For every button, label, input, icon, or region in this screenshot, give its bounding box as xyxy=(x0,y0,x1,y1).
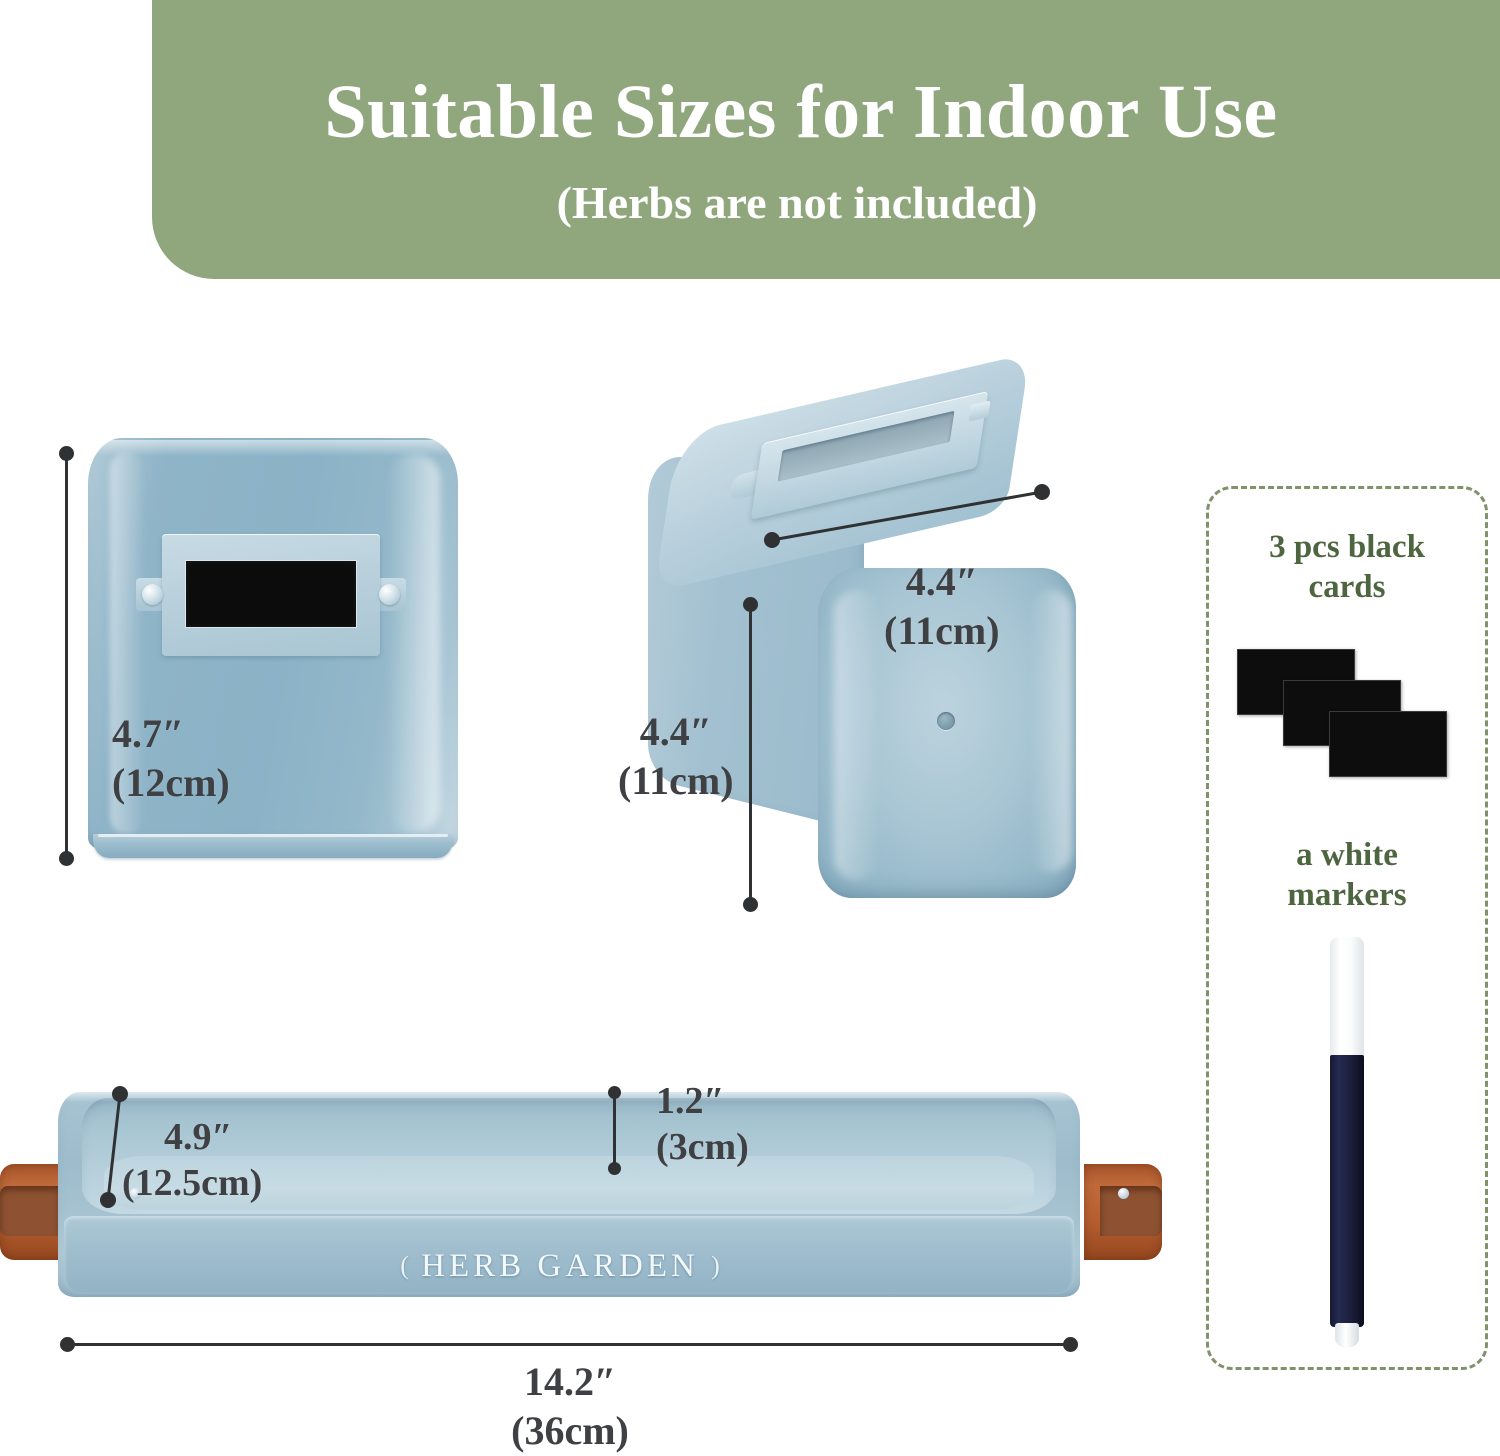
white-marker-caption: a white markers xyxy=(1209,835,1485,916)
dimension-line-tray-length xyxy=(66,1343,1076,1346)
dimension-dot-tray-length-right xyxy=(1063,1337,1078,1352)
dimension-dot-planter-depth-bottom xyxy=(743,897,758,912)
dimension-value-metric: (3cm) xyxy=(656,1124,749,1170)
dimension-value-metric: (11cm) xyxy=(884,607,1000,656)
white-marker-illustration xyxy=(1328,937,1366,1349)
dimension-value-inches: 14.2″ xyxy=(0,1358,1140,1407)
dimension-label-planter-height: 4.7″ (12cm) xyxy=(112,710,230,808)
black-cards-caption-line1: 3 pcs black xyxy=(1209,527,1485,567)
laurel-ornament-right: ) xyxy=(711,1251,720,1281)
label-holder xyxy=(136,534,406,656)
laurel-ornament-left: ( xyxy=(400,1251,409,1281)
dimension-value-metric: (36cm) xyxy=(0,1407,1140,1456)
handle-inner-shadow xyxy=(0,1186,60,1236)
marker-cap xyxy=(1330,937,1364,1057)
dimension-value-metric: (12.5cm) xyxy=(122,1160,262,1206)
planter-base-rim xyxy=(93,834,453,858)
dimension-value-inches: 4.4″ xyxy=(618,708,734,757)
planter-base-highlight xyxy=(98,834,448,837)
dimension-stroke-planter-width xyxy=(772,492,1042,540)
dimension-line-planter-depth xyxy=(749,604,752,904)
dimension-dot-tray-depth-bottom xyxy=(100,1192,116,1208)
dimension-value-inches: 4.9″ xyxy=(122,1114,262,1160)
dimension-dot-tray-length-left xyxy=(60,1337,75,1352)
dimension-dot-tray-wall-bottom xyxy=(608,1162,621,1175)
marker-tip xyxy=(1335,1323,1359,1347)
black-cards-illustration xyxy=(1237,649,1463,779)
marker-body xyxy=(1330,1055,1364,1327)
planter-top-rim xyxy=(92,440,454,456)
handle-inner-shadow xyxy=(1100,1186,1162,1236)
dimension-value-metric: (12cm) xyxy=(112,759,230,808)
black-chalk-card xyxy=(185,560,357,628)
banner-title: Suitable Sizes for Indoor Use xyxy=(152,74,1500,150)
tray-rivet-right xyxy=(1118,1188,1129,1199)
dimension-dot-tray-wall-top xyxy=(608,1086,621,1099)
dimension-label-tray-wall: 1.2″ (3cm) xyxy=(656,1078,749,1171)
white-marker-caption-line2: markers xyxy=(1209,875,1485,915)
dimension-label-planter-width: 4.4″ (11cm) xyxy=(884,558,1000,656)
dimension-line-tray-wall xyxy=(613,1092,616,1168)
white-marker-caption-line1: a white xyxy=(1209,835,1485,875)
dimension-label-tray-length: 14.2″ (36cm) xyxy=(0,1358,1140,1456)
planter-front-gloss-left xyxy=(834,590,880,880)
black-cards-caption: 3 pcs black cards xyxy=(1209,527,1485,608)
dimension-dot-planter-width-left xyxy=(764,532,780,548)
drainage-hole xyxy=(937,712,955,730)
rivet-left xyxy=(142,584,163,605)
leather-handle-right xyxy=(1084,1164,1162,1260)
banner-subtitle: (Herbs are not included) xyxy=(152,176,1500,229)
dimension-line-planter-height xyxy=(65,452,68,858)
dimension-dot-tray-depth-top xyxy=(112,1086,128,1102)
dimension-label-tray-depth: 4.9″ (12.5cm) xyxy=(122,1114,262,1207)
rivet-right xyxy=(379,584,400,605)
dimension-value-metric: (11cm) xyxy=(618,757,734,806)
dimension-dot-planter-width-right xyxy=(1034,484,1050,500)
dimension-stroke-tray-depth xyxy=(108,1094,120,1200)
accessories-panel: 3 pcs black cards a white markers xyxy=(1206,486,1488,1370)
dimension-dot-planter-height-bottom xyxy=(59,851,74,866)
planter-front-gloss-right xyxy=(1030,590,1072,872)
black-card xyxy=(1329,711,1447,777)
dimension-dot-planter-height-top xyxy=(59,446,74,461)
dimension-value-inches: 4.7″ xyxy=(112,710,230,759)
dimension-dot-planter-depth-top xyxy=(743,597,758,612)
tray-brand-text: HERB GARDEN xyxy=(421,1248,699,1284)
dimension-label-planter-depth: 4.4″ (11cm) xyxy=(618,708,734,806)
dimension-line-planter-width xyxy=(730,470,1090,560)
dimension-value-inches: 1.2″ xyxy=(656,1078,749,1124)
dimension-value-inches: 4.4″ xyxy=(884,558,1000,607)
header-banner: Suitable Sizes for Indoor Use (Herbs are… xyxy=(152,0,1500,279)
black-cards-caption-line2: cards xyxy=(1209,567,1485,607)
